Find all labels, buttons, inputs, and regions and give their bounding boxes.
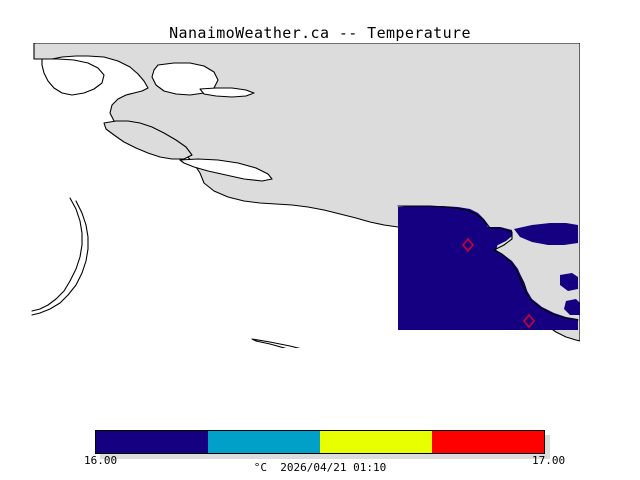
legend-band-red xyxy=(432,431,544,453)
legend-band-navy xyxy=(96,431,208,453)
legend-band-cyan xyxy=(208,431,320,453)
map-frame xyxy=(18,43,580,348)
color-legend xyxy=(95,430,545,454)
map-canvas xyxy=(18,43,580,348)
legend-band-yellow xyxy=(320,431,432,453)
legend-color-bar xyxy=(95,430,545,454)
legend-caption: °C 2026/04/21 01:10 xyxy=(0,461,640,474)
page-title: NanaimoWeather.ca -- Temperature xyxy=(0,24,640,42)
